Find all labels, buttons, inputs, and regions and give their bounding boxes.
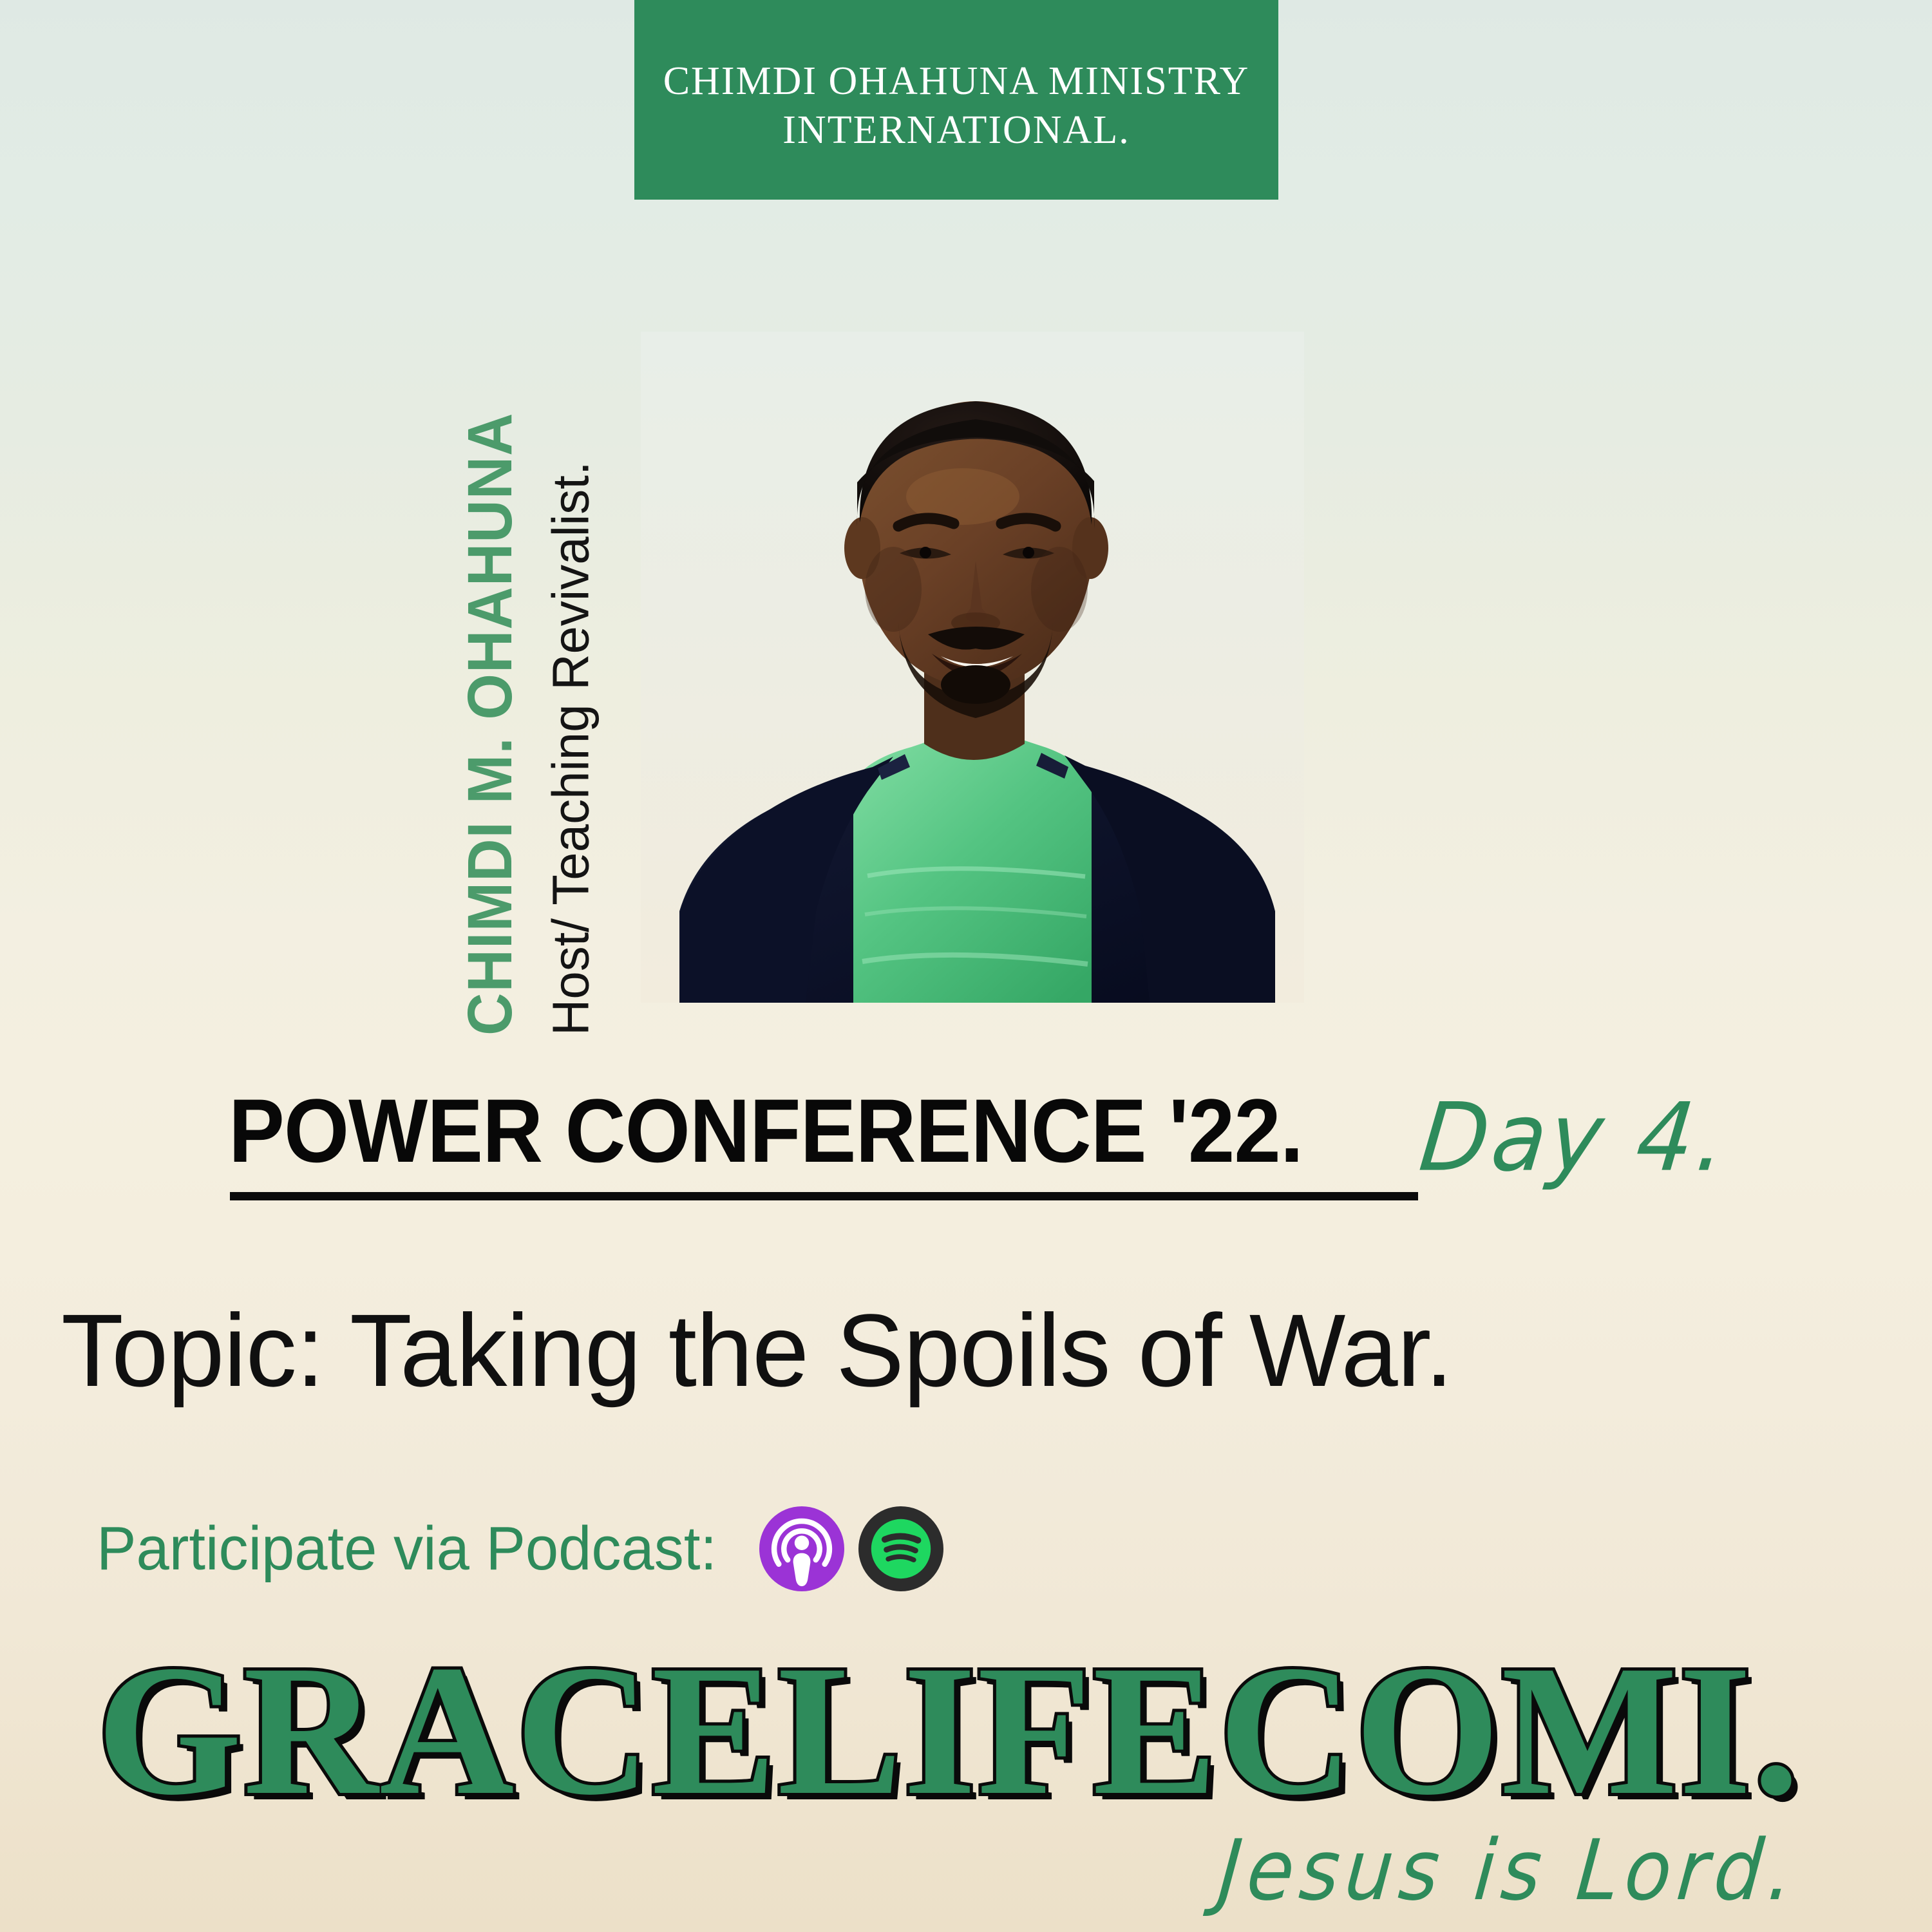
topic-text: Topic: Taking the Spoils of War.	[61, 1291, 1453, 1410]
speaker-portrait	[641, 332, 1304, 1003]
conference-title-underline	[230, 1192, 1418, 1200]
tagline-jesus-is-lord: Jesus is Lord.	[1215, 1821, 1803, 1919]
poster-canvas: CHIMDI OHAHUNA MINISTRY INTERNATIONAL. C…	[0, 0, 1932, 1932]
ministry-handle: GRACELIFECOMI.	[97, 1623, 1801, 1837]
speaker-portrait-image	[641, 332, 1304, 1003]
conference-title: POWER CONFERENCE '22.	[229, 1079, 1303, 1183]
ministry-banner: CHIMDI OHAHUNA MINISTRY INTERNATIONAL.	[634, 0, 1278, 200]
conference-title-row: POWER CONFERENCE '22. Day 4.	[229, 1079, 1877, 1214]
podcast-label: Participate via Podcast:	[97, 1513, 717, 1584]
speaker-role-vertical: Host/ Teaching Revivalist.	[541, 461, 601, 1036]
podcast-row: Participate via Podcast:	[97, 1501, 943, 1597]
ministry-name-text: CHIMDI OHAHUNA MINISTRY INTERNATIONAL.	[663, 42, 1250, 155]
spotify-icon[interactable]	[858, 1506, 943, 1591]
conference-day-label: Day 4.	[1415, 1083, 1734, 1193]
speaker-name-vertical: CHIMDI M. OHAHUNA	[455, 412, 526, 1036]
apple-podcasts-icon[interactable]	[759, 1506, 844, 1591]
